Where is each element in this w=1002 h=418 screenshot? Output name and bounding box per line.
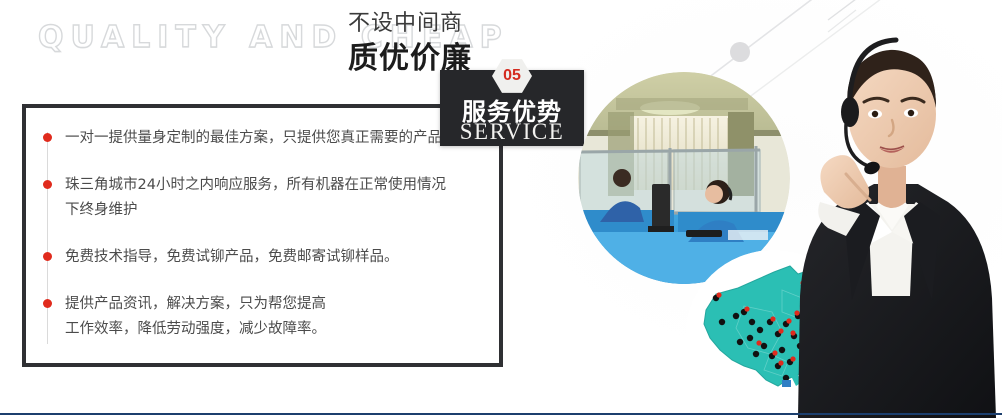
bullet-dot-icon (43, 133, 52, 142)
section-badge: 05 服务优势 SERVICE (440, 70, 584, 146)
bottom-divider (0, 413, 1002, 415)
advantage-list: 一对一提供量身定制的最佳方案，只提供您真正需要的产品 珠三角城市24小时之内响应… (40, 126, 470, 342)
bullet-dot-icon (43, 252, 52, 261)
service-advantage-banner: QUALITY AND CHEAP 不设中间商 质优价廉 一对一提供量身定制的最… (0, 0, 1002, 418)
list-item-line: 免费技术指导，免费试铆产品，免费邮寄试铆样品。 (65, 245, 470, 270)
bullet-dot-icon (43, 299, 52, 308)
list-item: 一对一提供量身定制的最佳方案，只提供您真正需要的产品 (40, 126, 470, 151)
badge-title-en: SERVICE (440, 119, 584, 145)
list-item-line: 工作效率，降低劳动强度，减少故障率。 (65, 317, 470, 342)
bullet-dot-icon (43, 180, 52, 189)
list-item-line: 一对一提供量身定制的最佳方案，只提供您真正需要的产品 (65, 126, 470, 151)
list-item: 提供产品资讯，解决方案，只为帮您提高 工作效率，降低劳动强度，减少故障率。 (40, 292, 470, 342)
list-item-line: 提供产品资讯，解决方案，只为帮您提高 (65, 292, 470, 317)
list-item-line: 下终身维护 (65, 198, 470, 223)
agent-photo (780, 0, 1002, 418)
list-item-line: 珠三角城市24小时之内响应服务，所有机器在正常使用情况 (65, 173, 470, 198)
list-item: 珠三角城市24小时之内响应服务，所有机器在正常使用情况 下终身维护 (40, 173, 470, 223)
badge-number: 05 (503, 68, 521, 84)
list-item: 免费技术指导，免费试铆产品，免费邮寄试铆样品。 (40, 245, 470, 270)
